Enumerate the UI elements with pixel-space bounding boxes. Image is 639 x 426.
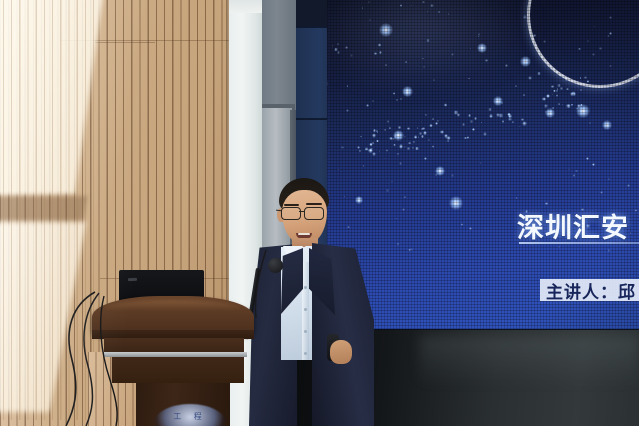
shirt-placket bbox=[302, 262, 309, 360]
slide-subtitle-box: 主讲人：邱 bbox=[540, 279, 639, 301]
shirt-button bbox=[304, 308, 307, 311]
speaker-eyebrow-left bbox=[284, 204, 299, 206]
presentation-photo: 深圳汇安 主讲人：邱 工 程 bbox=[0, 0, 639, 426]
slat-overlay bbox=[0, 0, 100, 420]
led-presentation-screen: 深圳汇安 主讲人：邱 bbox=[327, 0, 639, 332]
pillar-top-trim bbox=[229, 0, 266, 13]
glasses-lens-left bbox=[281, 207, 301, 220]
glasses-lens-right bbox=[304, 207, 324, 220]
shirt-button bbox=[304, 330, 307, 333]
stage-base-sheen bbox=[420, 336, 639, 386]
speaker-eyebrow-right bbox=[306, 203, 322, 205]
podium-mid-panel bbox=[112, 357, 244, 383]
slide-title: 深圳汇安 bbox=[517, 206, 629, 245]
shirt-button bbox=[304, 286, 307, 289]
speaker-hand bbox=[330, 340, 352, 364]
slide-title-underline bbox=[519, 242, 639, 244]
wood-seam bbox=[95, 42, 155, 43]
microphone-head-icon bbox=[268, 258, 283, 273]
glasses-icon bbox=[280, 207, 328, 219]
slide-subtitle: 主讲人：邱 bbox=[546, 278, 636, 303]
laptop-logo-icon bbox=[128, 278, 137, 281]
podium-emblem-text: 工 程 bbox=[152, 411, 228, 422]
shirt-button bbox=[304, 352, 307, 355]
glasses-bridge bbox=[299, 211, 305, 212]
